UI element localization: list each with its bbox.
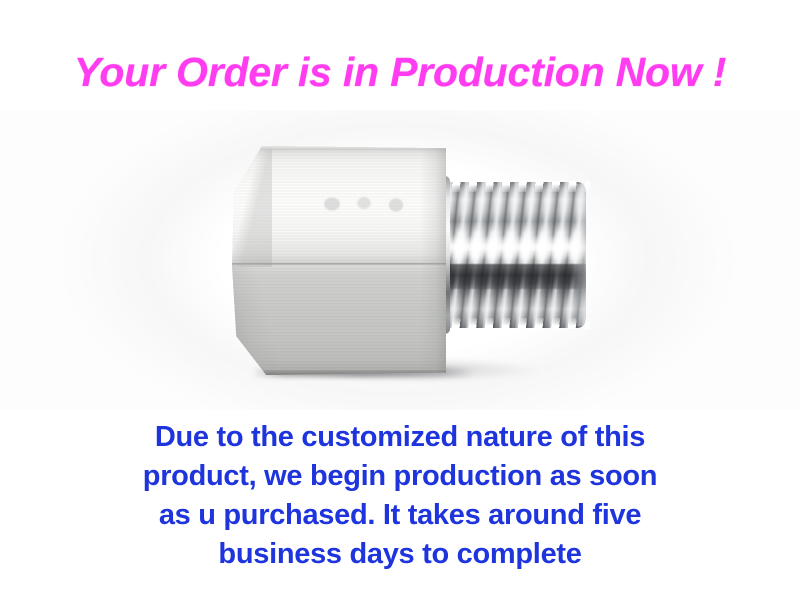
male-threaded-nipple (438, 182, 586, 328)
body-copy-line-4: business days to complete (60, 535, 740, 574)
thread-end-cap (573, 184, 586, 326)
thread-crest-silhouette-top (436, 181, 590, 192)
thread-valley-shadow (438, 264, 586, 289)
thread-specular-highlight (438, 236, 586, 258)
hex-chamfer-top-left (232, 146, 272, 267)
headline-text: Your Order is in Production Now ! (0, 48, 800, 96)
hex-body (232, 146, 446, 375)
hex-stamped-marking (318, 190, 422, 220)
product-image-hex-pipe-adapter (232, 140, 600, 388)
body-copy-line-3: as u purchased. It takes around five (60, 496, 740, 535)
body-copy: Due to the customized nature of this pro… (60, 418, 740, 574)
promo-banner: Your Order is in Production Now ! (0, 0, 800, 600)
thread-cylinder (438, 182, 586, 328)
body-copy-line-1: Due to the customized nature of this (60, 418, 740, 457)
hex-right-shading (420, 146, 446, 375)
hex-top-lip (254, 146, 446, 150)
body-copy-line-2: product, we begin production as soon (60, 457, 740, 496)
thread-crest-silhouette-bottom (436, 318, 590, 329)
